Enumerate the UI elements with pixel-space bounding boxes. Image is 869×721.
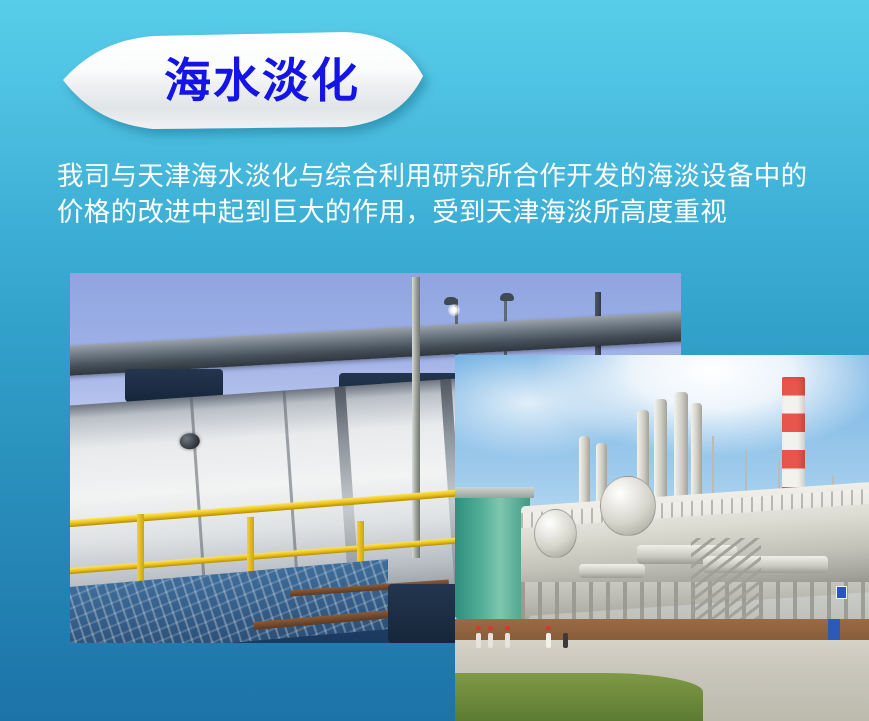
- process-column-6: [691, 403, 702, 505]
- worker-5: [563, 633, 568, 648]
- lamp-glow-1: [448, 304, 460, 316]
- slide-canvas: 海水淡化 我司与天津海水淡化与综合利用研究所合作开发的海淡设备中的 价格的改进中…: [0, 0, 869, 721]
- process-column-5: [674, 392, 687, 505]
- green-storage-tank: [455, 494, 530, 618]
- crossover-tube-3: [579, 564, 645, 579]
- title-banner: 海水淡化: [57, 28, 429, 132]
- tank-top-railing: [455, 487, 534, 498]
- worker-1-helmet: [476, 626, 481, 630]
- light-pole-1: [712, 436, 714, 495]
- description-line-2: 价格的改进中起到巨大的作用，受到天津海淡所高度重视: [57, 194, 869, 230]
- vertical-mast: [412, 277, 420, 558]
- worker-3-helmet: [505, 626, 510, 630]
- site-sign: [836, 586, 847, 599]
- waste-bin: [828, 619, 840, 641]
- worker-2-helmet: [488, 626, 493, 630]
- process-column-4: [654, 399, 667, 505]
- photo-2-scene: [455, 355, 869, 721]
- worker-1: [476, 633, 481, 648]
- worker-4: [546, 633, 551, 648]
- lamp-head-2: [500, 293, 514, 301]
- grass-patch: [455, 673, 703, 721]
- page-title: 海水淡化: [57, 28, 429, 132]
- worker-4-helmet: [546, 626, 551, 630]
- worker-3: [505, 633, 510, 648]
- vessel-nozzle-1: [179, 432, 200, 449]
- separator-drum-1: [600, 476, 656, 537]
- photo-desalination-plant-wideshot: [455, 355, 869, 721]
- process-column-1: [579, 436, 590, 509]
- description-block: 我司与天津海水淡化与综合利用研究所合作开发的海淡设备中的 价格的改进中起到巨大的…: [57, 158, 869, 230]
- separator-drum-2: [534, 509, 577, 559]
- worker-2: [488, 633, 493, 648]
- description-line-1: 我司与天津海水淡化与综合利用研究所合作开发的海淡设备中的: [57, 158, 869, 194]
